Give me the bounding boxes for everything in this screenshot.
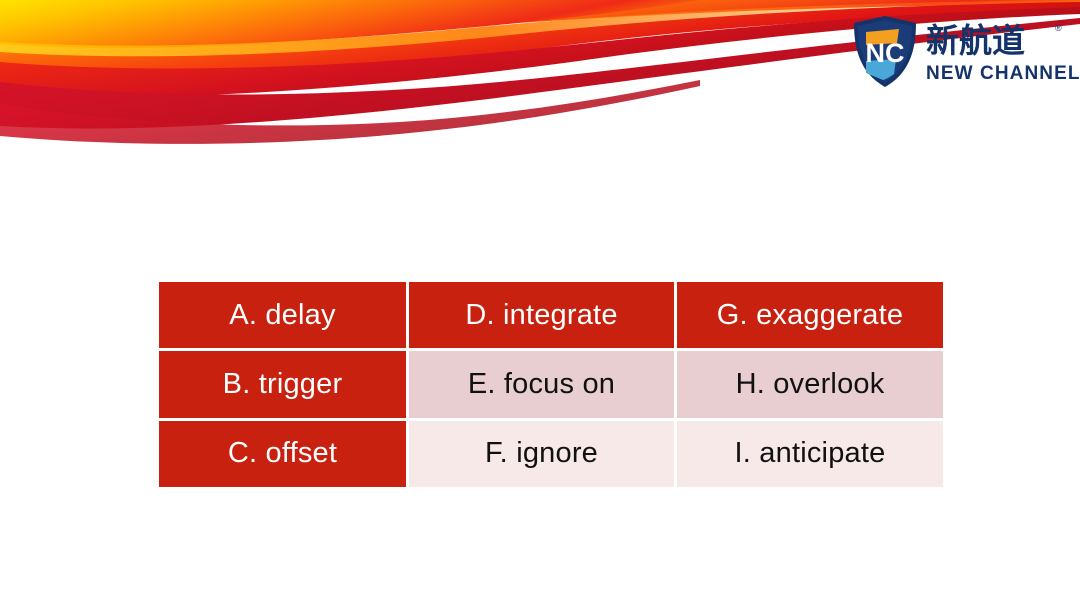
answer-options-table: A. delay D. integrate G. exaggerate B. t… [156,279,946,490]
chinese-brand-text: 新航道 [926,21,1025,60]
svg-text:NC: NC [866,38,905,68]
option-cell-c[interactable]: C. offset [159,421,406,487]
brand-logo: NC 新航道 ® NEW CHANNEL [852,14,1064,90]
option-cell-g[interactable]: G. exaggerate [677,282,943,348]
table-row: B. trigger E. focus on H. overlook [159,351,943,417]
option-cell-d[interactable]: D. integrate [409,282,674,348]
option-cell-h[interactable]: H. overlook [677,351,943,417]
option-cell-a[interactable]: A. delay [159,282,406,348]
option-cell-i[interactable]: I. anticipate [677,421,943,487]
option-cell-f[interactable]: F. ignore [409,421,674,487]
table-row: C. offset F. ignore I. anticipate [159,421,943,487]
english-brand-name: NEW CHANNEL [926,64,1080,83]
table-row: A. delay D. integrate G. exaggerate [159,282,943,348]
nc-shield-icon: NC [852,15,918,89]
presentation-slide: NC 新航道 ® NEW CHANNEL A. delay D. integra… [0,0,1080,601]
option-cell-e[interactable]: E. focus on [409,351,674,417]
registered-mark: ® [1055,23,1062,33]
option-cell-b[interactable]: B. trigger [159,351,406,417]
chinese-brand-name: 新航道 ® [926,21,1066,61]
